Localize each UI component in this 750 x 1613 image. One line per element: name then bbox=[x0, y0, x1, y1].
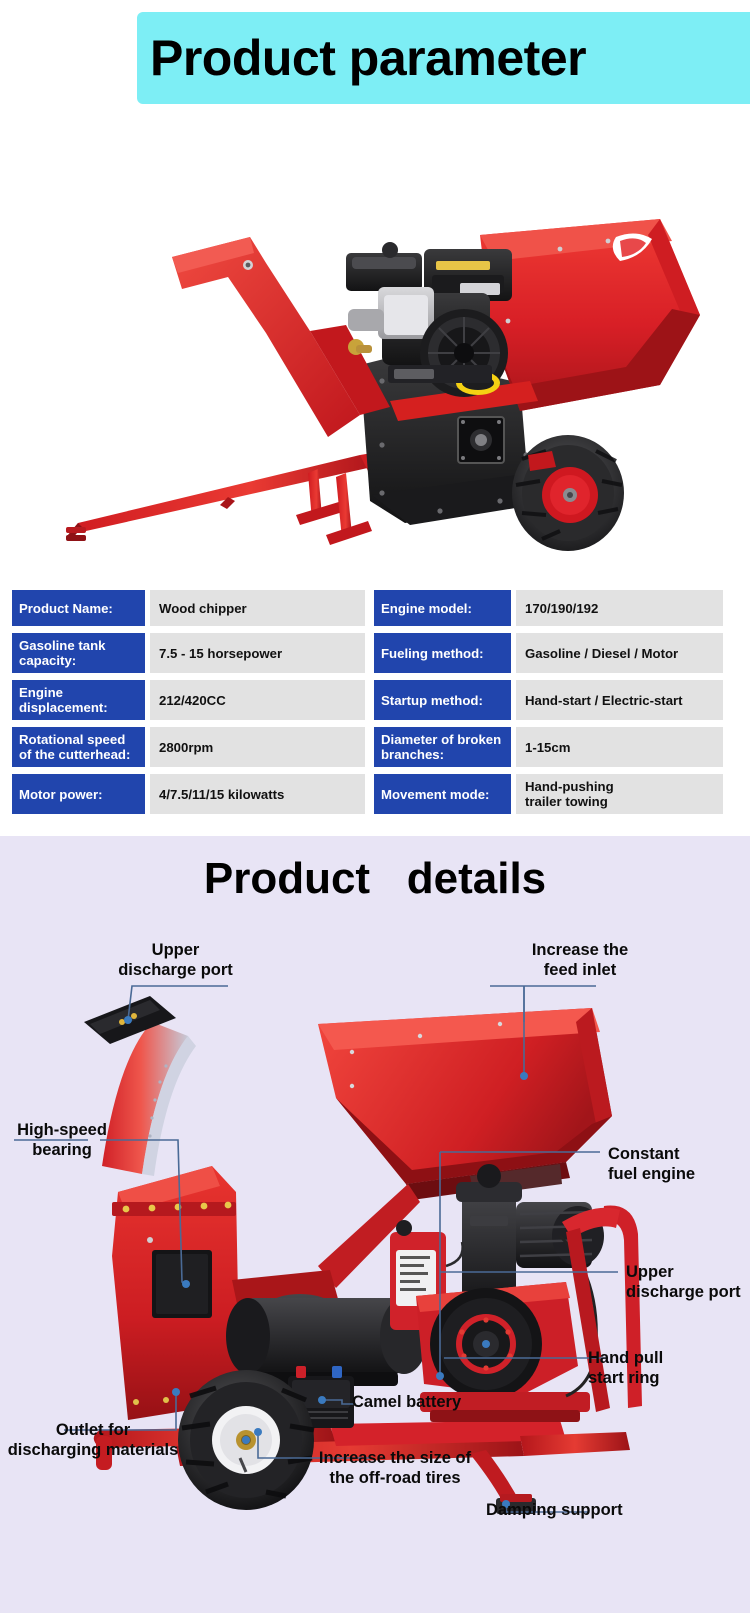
table-row: Motor power: 4/7.5/11/15 kilowatts Movem… bbox=[12, 774, 738, 814]
spec-label-rotational-speed: Rotational speed of the cutterhead: bbox=[12, 727, 145, 767]
table-row: Gasoline tank capacity: 7.5 - 15 horsepo… bbox=[12, 633, 738, 673]
callout-damping-support: Damping support bbox=[486, 1500, 646, 1520]
spec-pair-right: Fueling method: Gasoline / Diesel / Moto… bbox=[374, 633, 723, 673]
product-details-section: Product details bbox=[0, 836, 750, 1613]
spec-pair-right: Startup method: Hand-start / Electric-st… bbox=[374, 680, 723, 720]
spec-value-product-name: Wood chipper bbox=[150, 590, 365, 626]
spec-value-rotational-speed: 2800rpm bbox=[150, 727, 365, 767]
specification-table: Product Name: Wood chipper Engine model:… bbox=[12, 590, 738, 821]
spec-value-fueling-method: Gasoline / Diesel / Motor bbox=[516, 633, 723, 673]
spec-value-gasoline-tank-capacity: 7.5 - 15 horsepower bbox=[150, 633, 365, 673]
callout-upper-discharge-port-right: Upper discharge port bbox=[626, 1262, 750, 1302]
spec-pair-left: Product Name: Wood chipper bbox=[12, 590, 365, 626]
callout-high-speed-bearing: High-speed bearing bbox=[2, 1120, 122, 1160]
spec-label-startup-method: Startup method: bbox=[374, 680, 511, 720]
callout-hand-pull-start-ring: Hand pull start ring bbox=[588, 1348, 718, 1388]
spec-pair-right: Movement mode: Hand-pushing trailer towi… bbox=[374, 774, 723, 814]
spec-value-startup-method: Hand-start / Electric-start bbox=[516, 680, 723, 720]
spec-value-motor-power: 4/7.5/11/15 kilowatts bbox=[150, 774, 365, 814]
callout-increase-the-size-of-the-off-road-tires: Increase the size of the off-road tires bbox=[298, 1448, 492, 1488]
spec-label-motor-power: Motor power: bbox=[12, 774, 145, 814]
spec-label-engine-displacement: Engine displacement: bbox=[12, 680, 145, 720]
wood-chipper-illustration bbox=[60, 205, 710, 575]
spec-label-gasoline-tank-capacity: Gasoline tank capacity: bbox=[12, 633, 145, 673]
spec-pair-left: Gasoline tank capacity: 7.5 - 15 horsepo… bbox=[12, 633, 365, 673]
table-row: Rotational speed of the cutterhead: 2800… bbox=[12, 727, 738, 767]
spec-pair-right: Engine model: 170/190/192 bbox=[374, 590, 723, 626]
spec-label-fueling-method: Fueling method: bbox=[374, 633, 511, 673]
spec-value-engine-displacement: 212/420CC bbox=[150, 680, 365, 720]
spec-label-engine-model: Engine model: bbox=[374, 590, 511, 626]
spec-pair-right: Diameter of broken branches: 1-15cm bbox=[374, 727, 723, 767]
spec-value-engine-model: 170/190/192 bbox=[516, 590, 723, 626]
spec-pair-left: Rotational speed of the cutterhead: 2800… bbox=[12, 727, 365, 767]
product-parameter-section: Product parameter bbox=[0, 0, 750, 836]
spec-label-product-name: Product Name: bbox=[12, 590, 145, 626]
annotated-product-diagram: Upper discharge port Increase the feed i… bbox=[0, 836, 750, 1613]
table-row: Engine displacement: 212/420CC Startup m… bbox=[12, 680, 738, 720]
callout-increase-the-feed-inlet: Increase the feed inlet bbox=[490, 940, 670, 980]
spec-pair-left: Motor power: 4/7.5/11/15 kilowatts bbox=[12, 774, 365, 814]
spec-value-movement-mode: Hand-pushing trailer towing bbox=[516, 774, 723, 814]
callout-camel-battery: Camel battery bbox=[352, 1392, 492, 1412]
spec-label-diameter-broken-branches: Diameter of broken branches: bbox=[374, 727, 511, 767]
spec-value-diameter-broken-branches: 1-15cm bbox=[516, 727, 723, 767]
table-row: Product Name: Wood chipper Engine model:… bbox=[12, 590, 738, 626]
page-title: Product parameter bbox=[150, 18, 750, 98]
spec-pair-left: Engine displacement: 212/420CC bbox=[12, 680, 365, 720]
hero-product-image bbox=[60, 205, 710, 575]
spec-label-movement-mode: Movement mode: bbox=[374, 774, 511, 814]
callout-upper-discharge-port-top: Upper discharge port bbox=[88, 940, 263, 980]
callout-outlet-for-discharging-materials: Outlet for discharging materials bbox=[0, 1420, 186, 1460]
callout-constant-fuel-engine: Constant fuel engine bbox=[608, 1144, 748, 1184]
